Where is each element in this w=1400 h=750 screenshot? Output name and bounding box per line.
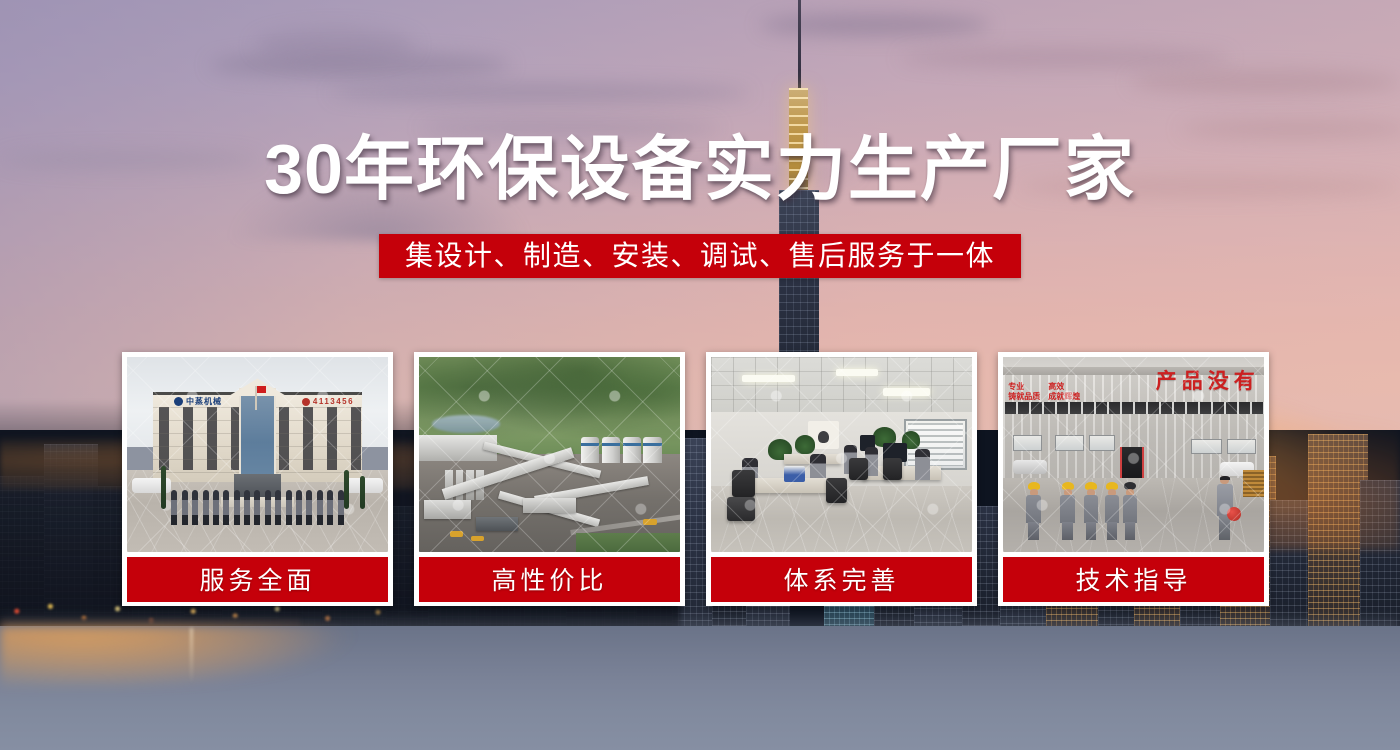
worker-uniform bbox=[1123, 495, 1137, 523]
factory-door bbox=[1120, 447, 1143, 482]
pond bbox=[432, 415, 500, 433]
card-caption: 技术指导 bbox=[1003, 557, 1264, 602]
water-light-streak bbox=[190, 628, 193, 684]
worker bbox=[1105, 482, 1119, 540]
tree bbox=[344, 470, 349, 509]
staff-person bbox=[213, 490, 219, 525]
building-company-sign: 中蒸机械 bbox=[174, 395, 252, 409]
card-photo-industrial-plant bbox=[419, 357, 680, 552]
factory-shed bbox=[523, 498, 575, 513]
parked-car bbox=[1013, 460, 1047, 474]
office-chair bbox=[727, 497, 756, 520]
side-slogan: 专业铸就品质 bbox=[1008, 382, 1040, 402]
photo-content: 中蒸机械 4113456 bbox=[127, 357, 388, 552]
card-photo-worker-briefing: 产 品 没 有 专业铸就品质 高效成就辉煌 bbox=[1003, 357, 1264, 552]
subtitle-banner: 集设计、制造、安装、调试、售后服务于一体 bbox=[379, 234, 1021, 278]
phone-icon bbox=[302, 398, 310, 406]
worker bbox=[1026, 482, 1040, 540]
card-caption: 高性价比 bbox=[419, 557, 680, 602]
cloud bbox=[900, 48, 1230, 68]
office-chair bbox=[732, 470, 755, 497]
cloud bbox=[255, 28, 415, 62]
excavator bbox=[643, 519, 656, 525]
factory-window bbox=[1191, 439, 1222, 455]
feature-card[interactable]: 体系完善 bbox=[706, 352, 977, 606]
office-worker bbox=[915, 449, 931, 480]
staff-person bbox=[306, 490, 312, 525]
factory-side-slogans: 专业铸就品质 高效成就辉煌 bbox=[1008, 382, 1107, 401]
worker-legs bbox=[1086, 522, 1096, 541]
card-photo-office-building: 中蒸机械 4113456 bbox=[127, 357, 388, 552]
factory-main-slogan: 产 品 没 有 bbox=[1123, 369, 1259, 394]
storage-silo bbox=[602, 437, 620, 463]
cloud bbox=[1130, 70, 1400, 94]
cloud bbox=[330, 84, 750, 102]
staff-person bbox=[275, 490, 281, 525]
feature-card-row: 中蒸机械 4113456 bbox=[122, 352, 1278, 606]
worker-uniform bbox=[1026, 495, 1040, 523]
office-chair bbox=[849, 458, 867, 479]
cloud bbox=[760, 14, 990, 36]
excavator bbox=[450, 531, 463, 537]
worker-legs bbox=[1028, 522, 1038, 541]
staff-person bbox=[203, 490, 209, 525]
office-chair bbox=[883, 458, 901, 479]
card-caption: 服务全面 bbox=[127, 557, 388, 602]
staff-person bbox=[317, 490, 323, 525]
storage-silo bbox=[643, 437, 661, 463]
staff-person bbox=[265, 490, 271, 525]
subtitle-banner-wrap: 集设计、制造、安装、调试、售后服务于一体 bbox=[0, 234, 1400, 278]
company-sign-text: 中蒸机械 bbox=[186, 396, 222, 407]
stacked-pipes bbox=[1243, 470, 1264, 497]
staff-person bbox=[244, 490, 250, 525]
ceiling-light bbox=[742, 375, 794, 383]
worker-uniform bbox=[1084, 495, 1098, 523]
slogan-char: 产 bbox=[1156, 371, 1177, 392]
staff-person bbox=[223, 490, 229, 525]
water-reflections bbox=[0, 626, 420, 706]
ceiling-light bbox=[836, 369, 878, 377]
promo-banner: 30年环保设备实力生产厂家 集设计、制造、安装、调试、售后服务于一体 bbox=[0, 0, 1400, 750]
staff-person bbox=[327, 490, 333, 525]
photo-content bbox=[419, 357, 680, 552]
factory-shed bbox=[476, 517, 518, 531]
feature-card[interactable]: 产 品 没 有 专业铸就品质 高效成就辉煌 bbox=[998, 352, 1269, 606]
potted-plant bbox=[795, 435, 816, 454]
staff-row bbox=[171, 490, 343, 525]
feature-card[interactable]: 高性价比 bbox=[414, 352, 685, 606]
staff-person bbox=[171, 490, 177, 525]
worker-legs bbox=[1107, 522, 1117, 541]
slogan-char: 品 bbox=[1182, 371, 1203, 392]
staff-person bbox=[182, 490, 188, 525]
worker-legs bbox=[1125, 522, 1135, 541]
factory-window-band bbox=[1003, 402, 1264, 414]
staff-person bbox=[296, 490, 302, 525]
staff-person bbox=[286, 490, 292, 525]
storage-silo bbox=[623, 437, 641, 463]
worker bbox=[1084, 482, 1098, 540]
desk-equipment bbox=[784, 466, 805, 482]
staff-person bbox=[254, 490, 260, 525]
staff-person bbox=[338, 490, 344, 525]
side-slogan: 高效成就辉煌 bbox=[1048, 382, 1080, 402]
slogan-char: 没 bbox=[1208, 371, 1229, 392]
office-chair bbox=[826, 478, 847, 503]
building-phone-sign: 4113456 bbox=[302, 395, 354, 409]
flag-pole bbox=[255, 386, 257, 409]
office-ceiling bbox=[711, 357, 972, 415]
company-logo-icon bbox=[174, 397, 183, 406]
worker bbox=[1060, 482, 1074, 540]
factory-window bbox=[1055, 435, 1084, 451]
card-caption: 体系完善 bbox=[711, 557, 972, 602]
factory-window bbox=[1013, 435, 1042, 451]
factory-shed bbox=[424, 500, 471, 519]
headline-number: 30 bbox=[264, 130, 344, 208]
worker-legs bbox=[1062, 522, 1072, 541]
supervisor-hair bbox=[1220, 476, 1229, 480]
tree bbox=[161, 466, 166, 509]
vegetation bbox=[576, 533, 680, 552]
storage-silo bbox=[581, 437, 599, 463]
excavator bbox=[471, 536, 484, 542]
factory-window bbox=[1227, 439, 1256, 455]
worker-uniform bbox=[1060, 495, 1074, 523]
staff-person bbox=[234, 490, 240, 525]
red-helmet-icon bbox=[1227, 507, 1241, 521]
page-title: 30年环保设备实力生产厂家 bbox=[0, 132, 1400, 206]
factory-window bbox=[1089, 435, 1115, 451]
tree bbox=[360, 476, 365, 509]
tower-antenna-mast bbox=[798, 0, 801, 92]
photo-content bbox=[711, 357, 972, 552]
staff-person bbox=[192, 490, 198, 525]
slogan-char: 有 bbox=[1234, 371, 1255, 392]
photo-content: 产 品 没 有 专业铸就品质 高效成就辉煌 bbox=[1003, 357, 1264, 552]
feature-card[interactable]: 中蒸机械 4113456 bbox=[122, 352, 393, 606]
headline-text: 年环保设备实力生产厂家 bbox=[344, 130, 1136, 208]
card-photo-office-interior bbox=[711, 357, 972, 552]
worker bbox=[1123, 482, 1137, 540]
worker-uniform bbox=[1105, 495, 1119, 523]
plant-structures bbox=[419, 435, 680, 552]
phone-number-text: 4113456 bbox=[313, 397, 354, 406]
ceiling-light bbox=[883, 388, 930, 396]
